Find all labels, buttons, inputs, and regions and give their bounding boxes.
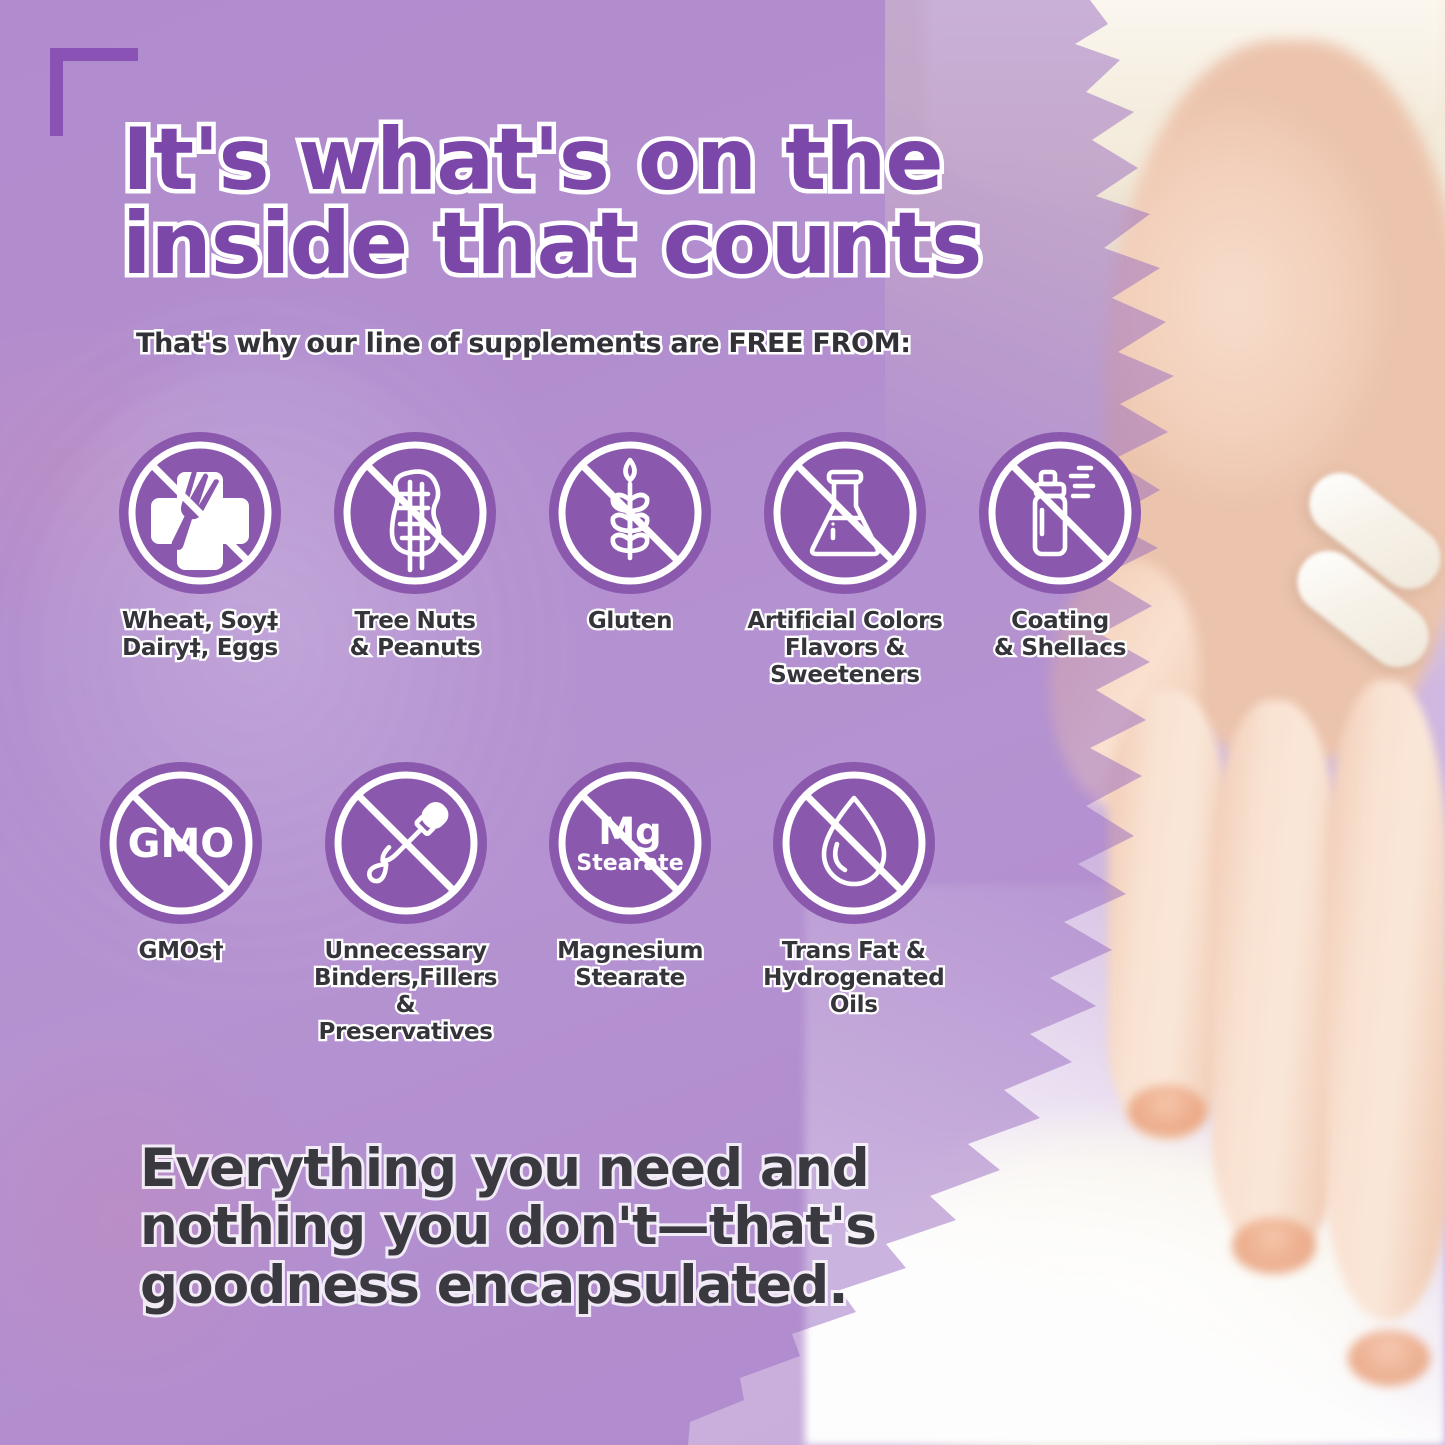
stearate-glyph: Stearate bbox=[576, 851, 683, 876]
free-from-item: Wheat, Soy‡ Dairy‡, Eggs bbox=[100, 432, 300, 689]
free-from-label: GMOs† bbox=[138, 938, 223, 965]
no-mg-stearate-icon: Mg Stearate bbox=[549, 762, 711, 924]
free-from-label: Gluten bbox=[588, 608, 672, 635]
no-cross-fork-icon bbox=[119, 432, 281, 594]
free-from-label: Tree Nuts & Peanuts bbox=[350, 608, 481, 662]
free-from-item: Mg Stearate Magnesium Stearate bbox=[549, 762, 711, 1047]
footer-tagline: Everything you need and nothing you don'… bbox=[140, 1140, 900, 1315]
headline-line-2: inside that counts bbox=[122, 202, 1022, 286]
page-title: It's what's on the inside that counts bbox=[122, 118, 1022, 287]
free-from-label: Coating & Shellacs bbox=[994, 608, 1126, 662]
footer-line-3: goodness encapsulated. bbox=[140, 1257, 900, 1315]
no-peanut-icon bbox=[334, 432, 496, 594]
no-wheat-stalk-icon bbox=[549, 432, 711, 594]
free-from-item: Coating & Shellacs bbox=[960, 432, 1160, 689]
free-from-label: Artificial Colors Flavors & Sweeteners bbox=[747, 608, 942, 689]
footer-line-2: nothing you don't—that's bbox=[140, 1198, 900, 1256]
free-from-label: Magnesium Stearate bbox=[557, 938, 703, 992]
free-from-item: Gluten bbox=[530, 432, 730, 689]
no-flask-icon bbox=[764, 432, 926, 594]
free-from-label: Unnecessary Binders,Fillers & Preservati… bbox=[314, 938, 497, 1047]
no-dropper-icon bbox=[325, 762, 487, 924]
no-gmo-icon: GMO bbox=[100, 762, 262, 924]
no-spray-can-icon bbox=[979, 432, 1141, 594]
infographic-canvas: It's what's on the inside that counts Th… bbox=[0, 0, 1445, 1445]
free-from-item: Tree Nuts & Peanuts bbox=[315, 432, 515, 689]
subheadline: That's why our line of supplements are F… bbox=[136, 328, 1036, 359]
free-from-label: Trans Fat & Hydrogenated Oils bbox=[763, 938, 944, 1019]
free-from-item: Trans Fat & Hydrogenated Oils bbox=[763, 762, 944, 1047]
no-oil-droplet-icon bbox=[773, 762, 935, 924]
free-from-row-1: Wheat, Soy‡ Dairy‡, Eggs Tree Nuts & Pea… bbox=[100, 432, 1160, 689]
free-from-item: Artificial Colors Flavors & Sweeteners bbox=[745, 432, 945, 689]
free-from-item: GMO GMOs† bbox=[100, 762, 262, 1047]
free-from-item: Unnecessary Binders,Fillers & Preservati… bbox=[314, 762, 497, 1047]
free-from-row-2: GMO GMOs† U bbox=[100, 762, 860, 1047]
footer-line-1: Everything you need and bbox=[140, 1140, 900, 1198]
free-from-label: Wheat, Soy‡ Dairy‡, Eggs bbox=[122, 608, 278, 662]
headline-line-1: It's what's on the bbox=[122, 118, 1022, 202]
